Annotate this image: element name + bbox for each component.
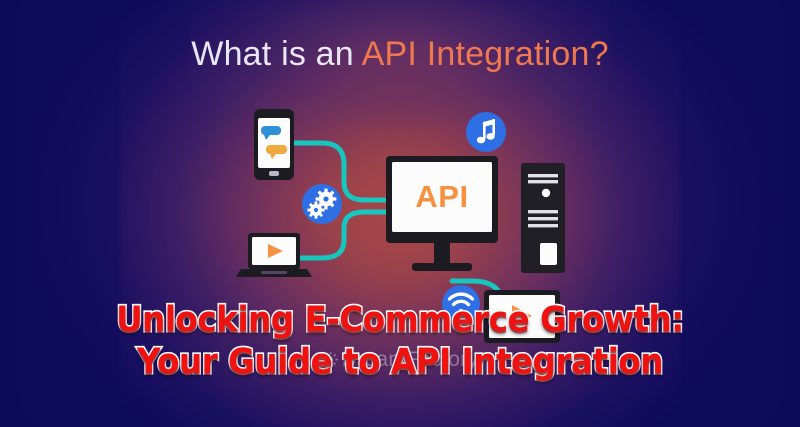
music-note-badge [466,112,506,152]
settings-gears-badge [302,184,342,224]
desktop-monitor-device: API [386,156,498,271]
smartphone-device [254,109,294,180]
server-tower-device [521,163,565,273]
infographic-canvas: What is an API Integration? [0,0,800,427]
connector-phone [292,143,388,200]
laptop-device [236,233,312,277]
monitor-api-label: API [415,179,468,214]
banner-line-1: Unlocking E-Commerce Growth: [28,303,772,339]
banner-line-2: Your Guide to API Integration [28,345,772,381]
banner-overlay: Unlocking E-Commerce Growth: Your Guide … [0,303,800,380]
